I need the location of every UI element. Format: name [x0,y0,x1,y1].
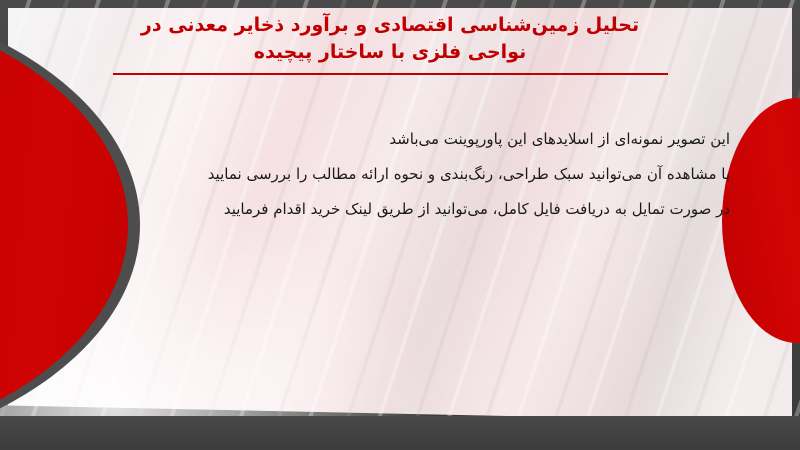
title-underline-rule [113,73,668,75]
presentation-slide: تحلیل زمین‌شناسی اقتصادی و برآورد ذخایر … [0,0,800,450]
body-line-1: این تصویر نمونه‌ای از اسلایدهای این پاور… [80,122,730,157]
slide-title-line-1: تحلیل زمین‌شناسی اقتصادی و برآورد ذخایر … [60,12,720,39]
bottom-dark-band [0,416,800,450]
body-line-3: در صورت تمایل به دریافت فایل کامل، می‌تو… [80,192,730,227]
body-line-2: با مشاهده آن می‌توانید سبک طراحی، رنگ‌بن… [80,157,730,192]
slide-body-text: این تصویر نمونه‌ای از اسلایدهای این پاور… [80,122,730,227]
slide-title: تحلیل زمین‌شناسی اقتصادی و برآورد ذخایر … [60,12,720,75]
slide-title-line-2: نواحی فلزی با ساختار پیچیده [60,39,720,66]
